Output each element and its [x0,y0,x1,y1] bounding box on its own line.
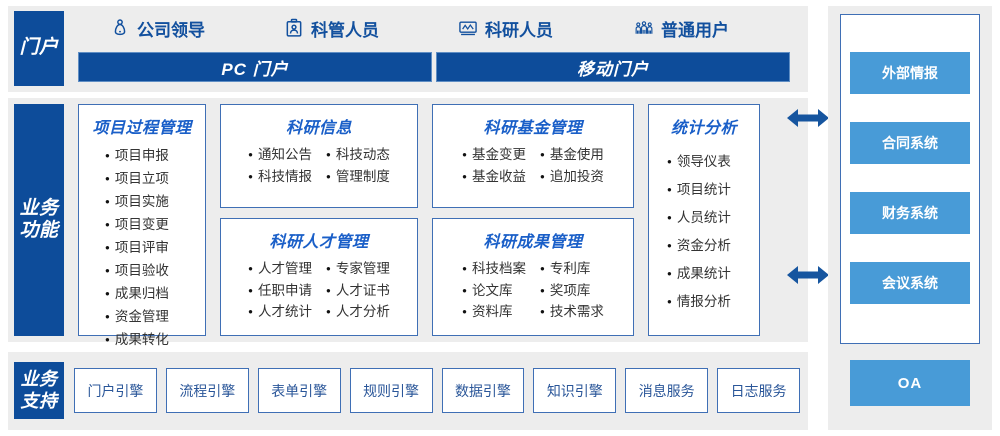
engine-label: 表单引擎 [271,381,327,401]
module-item-column: 通知公告科技情报 [248,145,312,188]
double-arrow-horizontal-icon [787,107,829,129]
portal-badge-label: 门户 [19,37,58,59]
module-item[interactable]: 资金分析 [667,233,759,261]
oa-label: OA [898,375,923,392]
module-item-column: 人才管理任职申请人才统计 [248,259,312,324]
module-item[interactable]: 成果归档 [105,283,205,306]
mobile-portal-bar[interactable]: 移动门户 [436,52,790,82]
module-item[interactable]: 奖项库 [540,281,604,303]
module-item[interactable]: 成果统计 [667,261,759,289]
business-functions-badge: 业务功能 [14,104,64,336]
group-people-icon [634,18,654,38]
role-item-research-admin[interactable]: 科管人员 [284,16,379,41]
module-item[interactable]: 人才分析 [326,302,390,324]
architecture-diagram: 门户 公司领导 科管人员 [0,0,1000,436]
engine-button-data[interactable]: 数据引擎 [442,368,525,413]
module-item[interactable]: 论文库 [462,281,526,303]
module-item[interactable]: 专家管理 [326,259,390,281]
external-system-label: 外部情报 [882,63,938,83]
integration-arrow-bottom [787,264,829,286]
module-item[interactable]: 项目验收 [105,260,205,283]
module-item[interactable]: 基金变更 [462,145,526,167]
engine-label: 门户引擎 [87,381,143,401]
executive-person-icon [110,18,130,38]
module-item[interactable]: 通知公告 [248,145,312,167]
module-title: 科研人才管理 [221,228,417,252]
engine-button-portal[interactable]: 门户引擎 [74,368,157,413]
module-item[interactable]: 人员统计 [667,205,759,233]
external-system-oa[interactable]: OA [850,360,970,406]
module-item-list: 基金变更基金收益 基金使用追加投资 [433,145,633,188]
pc-portal-bar[interactable]: PC 门户 [78,52,432,82]
engine-button-workflow[interactable]: 流程引擎 [166,368,249,413]
module-item[interactable]: 任职申请 [248,281,312,303]
role-list: 公司领导 科管人员 科研人员 [72,12,802,44]
module-item-column: 基金变更基金收益 [462,145,526,188]
role-label: 公司领导 [137,16,205,41]
double-arrow-horizontal-icon [787,264,829,286]
external-system-label: 财务系统 [882,203,938,223]
module-item[interactable]: 基金使用 [540,145,604,167]
engine-button-knowledge[interactable]: 知识引擎 [533,368,616,413]
external-system-label: 会议系统 [882,273,938,293]
module-item[interactable]: 科技动态 [326,145,390,167]
module-item[interactable]: 项目统计 [667,177,759,205]
module-item-column: 专利库奖项库技术需求 [540,259,604,324]
module-title: 科研成果管理 [433,228,633,252]
module-research-information[interactable]: 科研信息 通知公告科技情报 科技动态管理制度 [220,104,418,208]
engine-button-rule[interactable]: 规则引擎 [350,368,433,413]
engine-label: 日志服务 [731,381,787,401]
module-item[interactable]: 资料库 [462,302,526,324]
module-item[interactable]: 管理制度 [326,167,390,189]
engine-label: 消息服务 [639,381,695,401]
portal-section-badge: 门户 [14,11,64,86]
module-item[interactable]: 技术需求 [540,302,604,324]
module-item[interactable]: 领导仪表 [667,149,759,177]
module-item[interactable]: 科技档案 [462,259,526,281]
module-item[interactable]: 人才管理 [248,259,312,281]
id-badge-person-icon [284,18,304,38]
role-item-general-user[interactable]: 普通用户 [634,16,729,41]
module-item[interactable]: 项目申报 [105,145,205,168]
module-item-list: 科技档案论文库资料库 专利库奖项库技术需求 [433,259,633,324]
module-item[interactable]: 项目变更 [105,214,205,237]
module-item-column: 领导仪表项目统计人员统计资金分析成果统计情报分析 [649,149,759,317]
engine-label: 规则引擎 [363,381,419,401]
module-item[interactable]: 基金收益 [462,167,526,189]
module-item[interactable]: 情报分析 [667,289,759,317]
module-title: 项目过程管理 [79,114,205,138]
module-title: 科研信息 [221,114,417,138]
module-item[interactable]: 科技情报 [248,167,312,189]
mobile-portal-label: 移动门户 [577,55,649,80]
engine-label: 知识引擎 [547,381,603,401]
module-item[interactable]: 成果转化 [105,329,205,352]
integration-arrow-top [787,107,829,129]
module-item-column: 项目申报项目立项项目实施项目变更项目评审项目验收成果归档资金管理成果转化 [79,145,205,352]
module-item[interactable]: 追加投资 [540,167,604,189]
module-item[interactable]: 人才证书 [326,281,390,303]
engine-label: 流程引擎 [179,381,235,401]
module-item-column: 科技档案论文库资料库 [462,259,526,324]
module-item[interactable]: 专利库 [540,259,604,281]
engine-button-message-service[interactable]: 消息服务 [625,368,708,413]
module-research-fund-management[interactable]: 科研基金管理 基金变更基金收益 基金使用追加投资 [432,104,634,208]
module-item[interactable]: 项目实施 [105,191,205,214]
external-system-label: 合同系统 [882,133,938,153]
pc-portal-label: PC 门户 [221,55,288,80]
module-item-list: 人才管理任职申请人才统计 专家管理人才证书人才分析 [221,259,417,324]
module-title: 科研基金管理 [433,114,633,138]
module-research-talent-management[interactable]: 科研人才管理 人才管理任职申请人才统计 专家管理人才证书人才分析 [220,218,418,336]
module-item[interactable]: 项目立项 [105,168,205,191]
role-item-researcher[interactable]: 科研人员 [458,16,553,41]
module-statistical-analysis[interactable]: 统计分析 领导仪表项目统计人员统计资金分析成果统计情报分析 [648,104,760,336]
module-item-list: 项目申报项目立项项目实施项目变更项目评审项目验收成果归档资金管理成果转化 [79,145,205,352]
module-item-list: 通知公告科技情报 科技动态管理制度 [221,145,417,188]
role-label: 科管人员 [311,16,379,41]
module-project-process-management[interactable]: 项目过程管理 项目申报项目立项项目实施项目变更项目评审项目验收成果归档资金管理成… [78,104,206,336]
module-item-column: 基金使用追加投资 [540,145,604,188]
engine-button-log-service[interactable]: 日志服务 [717,368,800,413]
business-support-badge-label: 业务支持 [14,369,64,411]
module-item-list: 领导仪表项目统计人员统计资金分析成果统计情报分析 [649,149,759,317]
module-item-column: 科技动态管理制度 [326,145,390,188]
role-label: 普通用户 [661,16,729,41]
business-support-badge: 业务支持 [14,362,64,419]
module-item-column: 专家管理人才证书人才分析 [326,259,390,324]
role-item-company-leader[interactable]: 公司领导 [110,16,205,41]
external-system-external-intelligence[interactable]: 外部情报 [850,52,970,94]
engine-button-row: 门户引擎 流程引擎 表单引擎 规则引擎 数据引擎 知识引擎 消息服务 日志服务 [74,368,800,413]
business-functions-badge-label: 业务功能 [14,198,64,243]
engine-button-form[interactable]: 表单引擎 [258,368,341,413]
engine-label: 数据引擎 [455,381,511,401]
external-system-finance[interactable]: 财务系统 [850,192,970,234]
role-label: 科研人员 [485,16,553,41]
module-item[interactable]: 项目评审 [105,237,205,260]
chart-monitor-icon [458,18,478,38]
module-title: 统计分析 [649,114,759,138]
external-system-meeting[interactable]: 会议系统 [850,262,970,304]
module-research-achievement-management[interactable]: 科研成果管理 科技档案论文库资料库 专利库奖项库技术需求 [432,218,634,336]
external-system-contract[interactable]: 合同系统 [850,122,970,164]
module-item[interactable]: 人才统计 [248,302,312,324]
module-item[interactable]: 资金管理 [105,306,205,329]
